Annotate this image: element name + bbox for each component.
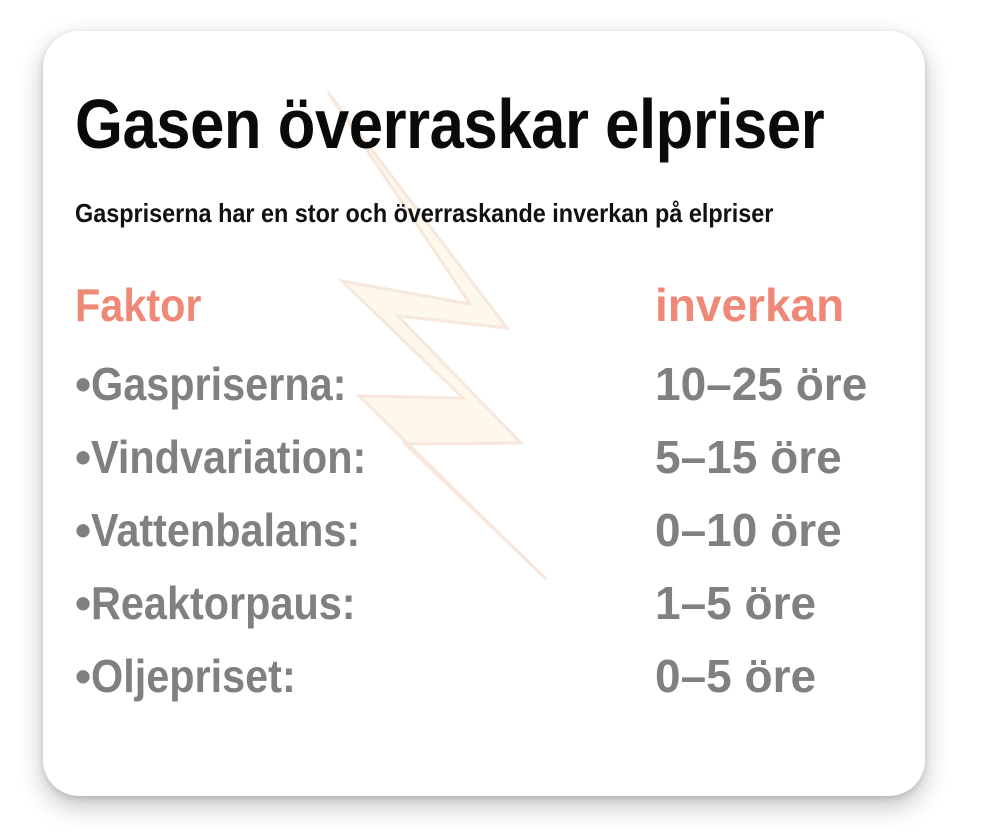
bullet-icon: • bbox=[75, 355, 91, 413]
column-header-impact-cell: inverkan bbox=[655, 277, 844, 333]
factor-impact-table: Faktor inverkan • Gaspriserna: 10–25 öre bbox=[43, 277, 925, 720]
impact-value: 0–10 öre bbox=[655, 504, 842, 556]
table-header-row: Faktor inverkan bbox=[43, 277, 925, 355]
bullet-icon: • bbox=[75, 501, 91, 559]
column-header-factor-cell: Faktor bbox=[75, 277, 216, 333]
factor-label: Vindvariation: bbox=[91, 428, 366, 486]
impact-cell: 5–15 öre bbox=[655, 428, 842, 486]
factor-cell: • Vattenbalans: bbox=[75, 501, 390, 559]
column-header-factor: Faktor bbox=[75, 277, 202, 333]
impact-cell: 10–25 öre bbox=[655, 355, 867, 413]
factor-label: Oljepriset: bbox=[91, 647, 296, 705]
table-row: • Oljepriset: 0–5 öre bbox=[43, 647, 925, 720]
impact-cell: 1–5 öre bbox=[655, 574, 816, 632]
factor-cell: • Reaktorpaus: bbox=[75, 574, 385, 632]
infographic-card: Gasen överraskar elpriser Gaspriserna ha… bbox=[43, 31, 925, 796]
column-header-impact: inverkan bbox=[655, 279, 844, 331]
impact-cell: 0–10 öre bbox=[655, 501, 842, 559]
card-content: Gasen överraskar elpriser Gaspriserna ha… bbox=[43, 31, 925, 796]
table-row: • Gaspriserna: 10–25 öre bbox=[43, 355, 925, 428]
impact-value: 5–15 öre bbox=[655, 431, 842, 483]
factor-cell: • Vindvariation: bbox=[75, 428, 397, 486]
factor-label: Reaktorpaus: bbox=[91, 574, 356, 632]
table-row: • Vattenbalans: 0–10 öre bbox=[43, 501, 925, 574]
table-row: • Vindvariation: 5–15 öre bbox=[43, 428, 925, 501]
impact-value: 10–25 öre bbox=[655, 358, 867, 410]
bullet-icon: • bbox=[75, 647, 91, 705]
factor-label: Vattenbalans: bbox=[91, 501, 360, 559]
impact-value: 1–5 öre bbox=[655, 577, 816, 629]
page-title: Gasen överraskar elpriser bbox=[75, 86, 805, 162]
bullet-icon: • bbox=[75, 574, 91, 632]
impact-cell: 0–5 öre bbox=[655, 647, 816, 705]
impact-value: 0–5 öre bbox=[655, 650, 816, 702]
page-subtitle: Gaspriserna har en stor och överraskande… bbox=[75, 197, 831, 229]
factor-label: Gaspriserna: bbox=[91, 355, 346, 413]
factor-cell: • Oljepriset: bbox=[75, 647, 319, 705]
bullet-icon: • bbox=[75, 428, 91, 486]
infographic-stage: Gasen överraskar elpriser Gaspriserna ha… bbox=[0, 0, 984, 834]
table-row: • Reaktorpaus: 1–5 öre bbox=[43, 574, 925, 647]
factor-cell: • Gaspriserna: bbox=[75, 355, 375, 413]
